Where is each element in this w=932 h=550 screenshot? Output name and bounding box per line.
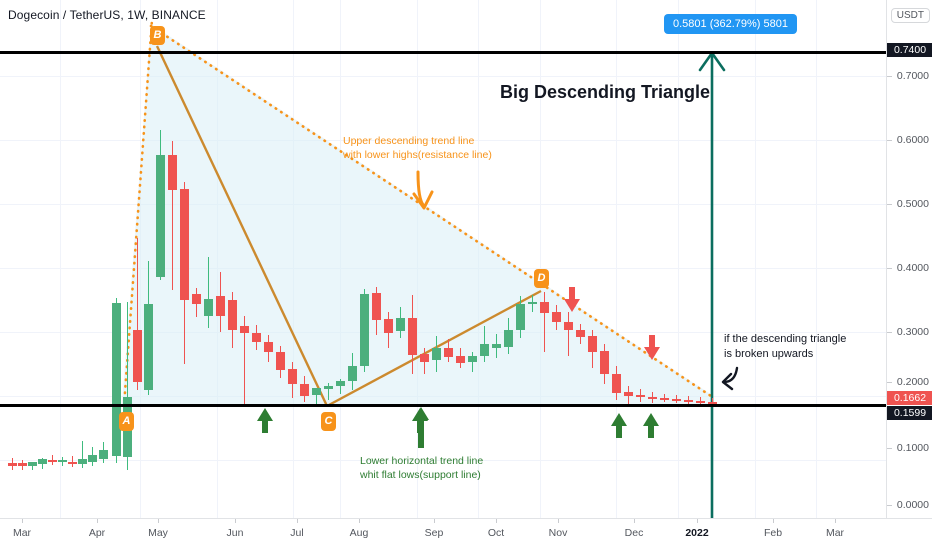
price-tick-label: 0.5000	[897, 198, 929, 210]
candle-body	[612, 374, 621, 393]
price-tick-mark	[887, 204, 892, 205]
candle-body	[228, 300, 237, 330]
candle-body	[372, 293, 381, 320]
time-tick-label: Mar	[13, 527, 31, 539]
upper-annotation-line-1: Upper descending trend line	[343, 134, 492, 148]
candle-body	[696, 401, 705, 403]
time-tick-label: Jun	[227, 527, 244, 539]
candle-body	[78, 459, 87, 464]
candle-body	[564, 322, 573, 330]
candle-body	[336, 381, 345, 386]
time-tick-label: Oct	[488, 527, 504, 539]
candle-body	[384, 319, 393, 333]
time-tick-label: Mar	[826, 527, 844, 539]
candle-body	[300, 384, 309, 396]
candle-body	[528, 302, 537, 304]
candle-wick	[568, 312, 569, 356]
time-tick-mark	[773, 519, 774, 523]
price-tick-mark	[887, 448, 892, 449]
pattern-point-c[interactable]: C	[321, 412, 336, 431]
candle-body	[58, 460, 67, 462]
candle-body	[240, 326, 249, 333]
time-tick-mark	[235, 519, 236, 523]
candle-body	[504, 330, 513, 347]
candle-wick	[62, 457, 63, 466]
candle-body	[276, 352, 285, 370]
tradingview-chart-screenshot: Dogecoin / TetherUS, 1W, BINANCE Big Des…	[0, 0, 932, 550]
price-badge-black[interactable]: 0.1599	[887, 406, 932, 420]
time-tick-label: Dec	[625, 527, 644, 539]
breakout-arrow-icon	[700, 53, 724, 518]
candle-body	[420, 354, 429, 362]
candle-body	[648, 397, 657, 399]
candle-body	[492, 344, 501, 348]
candle-body	[133, 330, 142, 382]
time-tick-mark	[297, 519, 298, 523]
candle-body	[576, 330, 585, 337]
time-tick-mark	[434, 519, 435, 523]
time-tick-label: 2022	[685, 527, 708, 539]
price-tick-mark	[887, 76, 892, 77]
price-tick-mark	[887, 505, 892, 506]
lower-annotation-arrow-icon	[413, 407, 429, 448]
candle-body	[600, 351, 609, 374]
price-tick-label: 0.1000	[897, 442, 929, 454]
candle-body	[144, 304, 153, 390]
price-tick-label: 0.3000	[897, 326, 929, 338]
price-tick-label: 0.4000	[897, 262, 929, 274]
resistance-level-line[interactable]	[0, 51, 886, 54]
candle-body	[360, 294, 369, 366]
candle-body	[204, 299, 213, 316]
candle-body	[264, 342, 273, 352]
candle-body	[252, 333, 261, 342]
price-tick-label: 0.7000	[897, 70, 929, 82]
candle-body	[348, 366, 357, 381]
price-axis[interactable]: USDT 0.70000.60000.50000.40000.30000.200…	[886, 0, 932, 518]
candle-body	[324, 386, 333, 389]
time-tick-label: Jul	[290, 527, 303, 539]
time-tick-mark	[97, 519, 98, 523]
rejection-arrows	[564, 287, 660, 360]
candle-body	[112, 303, 121, 456]
candle-body	[216, 296, 225, 316]
lower-annotation-line-2: whit flat lows(support line)	[360, 468, 483, 482]
price-tick-mark	[887, 140, 892, 141]
candle-body	[408, 318, 417, 355]
time-axis[interactable]: MarAprMayJunJulAugSepOctNovDec2022FebMar	[0, 518, 932, 550]
breakout-annotation: if the descending triangle is broken upw…	[724, 332, 846, 362]
curved-arrow-icon	[723, 368, 737, 389]
breakout-annotation-line-1: if the descending triangle	[724, 332, 846, 347]
candle-body	[480, 344, 489, 356]
time-tick-mark	[835, 519, 836, 523]
price-badge-black[interactable]: 0.7400	[887, 43, 932, 57]
candle-body	[168, 155, 177, 190]
candle-body	[684, 400, 693, 402]
chart-title: Big Descending Triangle	[500, 82, 710, 103]
quote-currency-chip[interactable]: USDT	[891, 8, 930, 23]
time-tick-mark	[359, 519, 360, 523]
time-tick-label: Apr	[89, 527, 105, 539]
candle-wick	[472, 352, 473, 372]
price-tick-label: 0.2000	[897, 376, 929, 388]
time-tick-label: Aug	[350, 527, 369, 539]
candle-body	[48, 460, 57, 462]
candle-wick	[208, 257, 209, 328]
candle-body	[180, 189, 189, 300]
candle-body	[68, 462, 77, 464]
pattern-point-d[interactable]: D	[534, 269, 549, 288]
candle-body	[456, 356, 465, 363]
candle-body	[432, 348, 441, 360]
price-change-badge[interactable]: 0.5801 (362.79%) 5801	[664, 14, 797, 34]
candle-body	[396, 318, 405, 331]
candle-wick	[544, 292, 545, 352]
time-tick-label: Nov	[549, 527, 568, 539]
candle-body	[516, 304, 525, 330]
time-tick-mark	[158, 519, 159, 523]
breakout-annotation-line-2: is broken upwards	[724, 347, 846, 362]
candle-body	[588, 336, 597, 352]
price-tick-mark	[887, 382, 892, 383]
price-tick-label: 0.6000	[897, 134, 929, 146]
candle-body	[444, 348, 453, 357]
candle-body	[540, 302, 549, 313]
time-tick-mark	[496, 519, 497, 523]
candle-body	[624, 392, 633, 396]
pattern-point-b[interactable]: B	[150, 26, 165, 45]
symbol-title: Dogecoin / TetherUS, 1W, BINANCE	[8, 8, 206, 22]
time-tick-mark	[22, 519, 23, 523]
time-tick-mark	[697, 519, 698, 523]
support-level-line[interactable]	[0, 404, 886, 407]
chart-plot-area[interactable]: Dogecoin / TetherUS, 1W, BINANCE Big Des…	[0, 0, 886, 518]
candle-body	[192, 294, 201, 304]
time-tick-mark	[558, 519, 559, 523]
pattern-overlay	[0, 0, 886, 518]
candle-body	[660, 398, 669, 400]
time-tick-label: Feb	[764, 527, 782, 539]
candle-body	[28, 462, 37, 466]
lower-annotation-line-1: Lower horizontal trend line	[360, 454, 483, 468]
candle-body	[99, 450, 108, 459]
candle-body	[18, 463, 27, 466]
candle-body	[552, 312, 561, 322]
time-tick-mark	[634, 519, 635, 523]
candle-body	[38, 459, 47, 464]
candle-body	[88, 455, 97, 462]
candle-body	[312, 388, 321, 395]
time-tick-label: Sep	[425, 527, 444, 539]
price-badge-red[interactable]: 0.1662	[887, 391, 932, 405]
price-tick-mark	[887, 332, 892, 333]
price-tick-label: 0.0000	[897, 499, 929, 511]
candle-body	[156, 155, 165, 277]
price-tick-mark	[887, 268, 892, 269]
candle-body	[8, 463, 17, 466]
candle-body	[636, 395, 645, 397]
candle-body	[468, 356, 477, 362]
upper-trendline-annotation: Upper descending trend line with lower h…	[343, 134, 492, 162]
lower-trendline-annotation: Lower horizontal trend line whit flat lo…	[360, 454, 483, 482]
time-tick-label: May	[148, 527, 168, 539]
support-bounce-arrows	[257, 408, 659, 438]
upper-annotation-line-2: with lower highs(resistance line)	[343, 148, 492, 162]
candle-body	[288, 369, 297, 384]
pattern-point-a[interactable]: A	[119, 412, 134, 431]
candle-body	[672, 399, 681, 401]
